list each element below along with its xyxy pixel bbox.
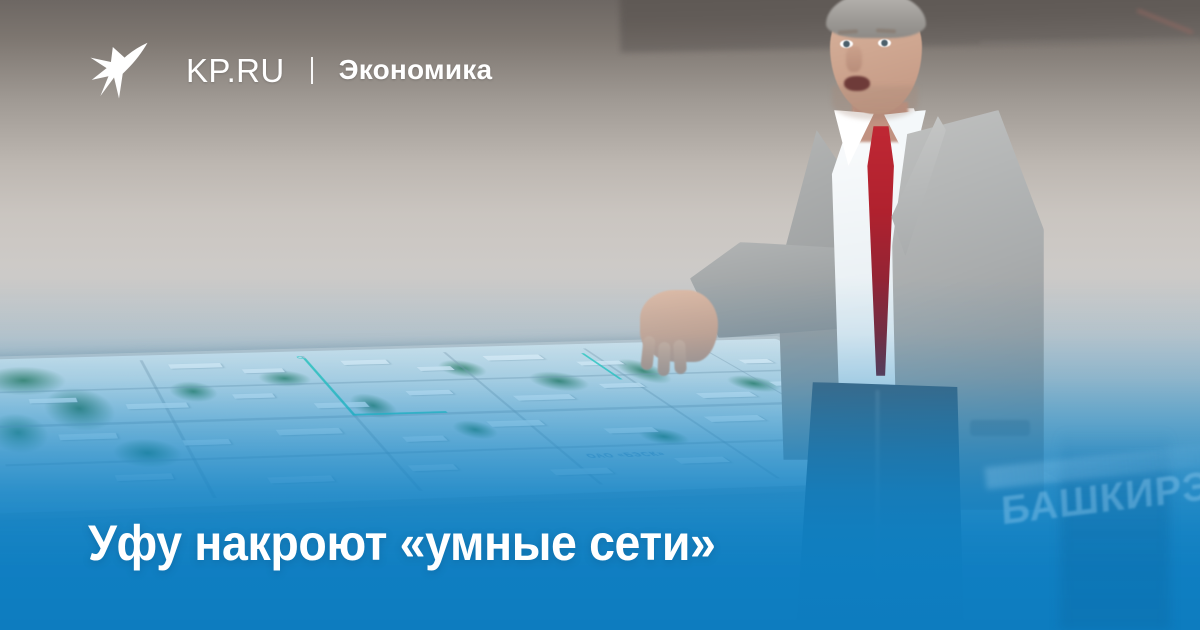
brand-lockup[interactable]: KP.RU Экономика	[88, 39, 492, 101]
header-divider	[311, 57, 313, 84]
rubric-label[interactable]: Экономика	[339, 56, 493, 84]
share-card: ОАО «БЭСК»	[0, 0, 1200, 630]
card-header: KP.RU Экономика	[0, 0, 1200, 140]
headline: Уфу накроют «умные сети»	[88, 517, 716, 570]
swallow-bird-logo-icon[interactable]	[88, 39, 150, 101]
brand-label[interactable]: KP.RU	[186, 54, 285, 87]
